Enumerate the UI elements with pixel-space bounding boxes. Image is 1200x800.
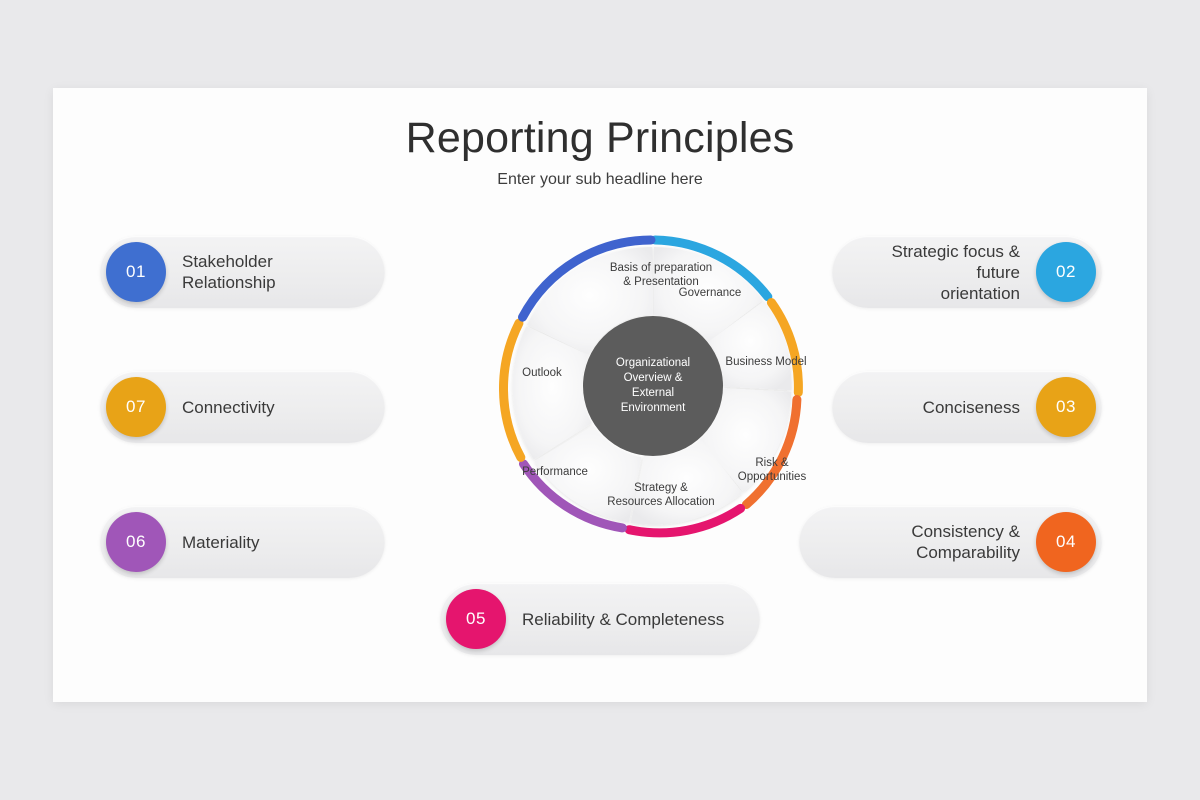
hub-line-3: External (593, 386, 713, 401)
principle-item-01[interactable]: 01 Stakeholder Relationship (100, 236, 385, 308)
principle-item-03[interactable]: Conciseness 03 (832, 371, 1102, 443)
principle-item-05[interactable]: 05 Reliability & Completeness (440, 583, 760, 655)
hub-line-4: Environment (593, 401, 713, 416)
principle-badge-01[interactable]: 01 (106, 242, 166, 302)
page-subtitle: Enter your sub headline here (53, 171, 1147, 189)
principle-item-02[interactable]: Strategic focus & future orientation 02 (832, 236, 1102, 308)
principle-item-06[interactable]: 06 Materiality (100, 506, 385, 578)
principle-badge-04[interactable]: 04 (1036, 512, 1096, 572)
principle-badge-05[interactable]: 05 (446, 589, 506, 649)
principle-item-07[interactable]: 07 Connectivity (100, 371, 385, 443)
hub-line-1: Organizational (593, 356, 713, 371)
principle-label-05: Reliability & Completeness (522, 609, 724, 630)
principle-label-01: Stakeholder Relationship (182, 251, 367, 293)
wheel-hub-label: Organizational Overview & External Envir… (593, 356, 713, 416)
principle-label-06: Materiality (182, 532, 259, 553)
principle-label-03: Conciseness (923, 397, 1020, 418)
principle-label-07: Connectivity (182, 397, 275, 418)
principle-badge-06[interactable]: 06 (106, 512, 166, 572)
reporting-principles-wheel: Organizational Overview & External Envir… (480, 213, 826, 559)
principle-label-04: Consistency & Comparability (817, 521, 1020, 563)
principle-label-02: Strategic focus & future orientation (850, 241, 1020, 304)
slide-card: Reporting Principles Enter your sub head… (53, 88, 1147, 702)
principle-badge-02[interactable]: 02 (1036, 242, 1096, 302)
hub-line-2: Overview & (593, 371, 713, 386)
page-title: Reporting Principles (53, 114, 1147, 163)
principle-badge-07[interactable]: 07 (106, 377, 166, 437)
principle-item-04[interactable]: Consistency & Comparability 04 (799, 506, 1102, 578)
principle-badge-03[interactable]: 03 (1036, 377, 1096, 437)
